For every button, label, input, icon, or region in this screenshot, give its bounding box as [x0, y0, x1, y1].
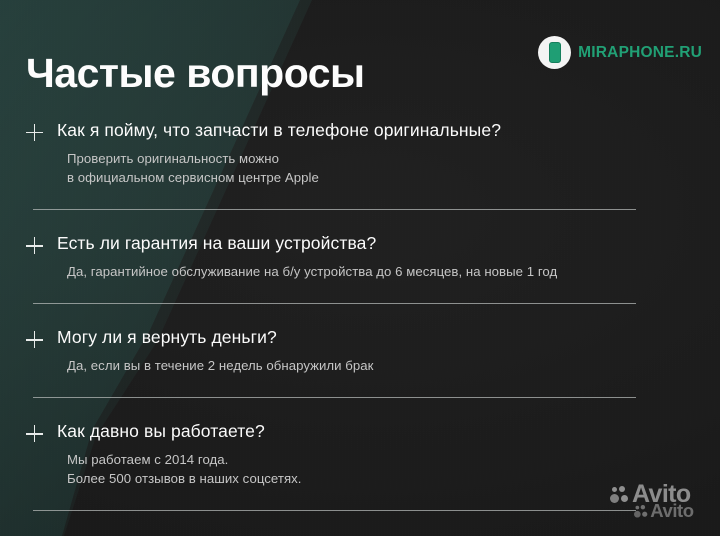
faq-divider	[33, 209, 636, 210]
faq-question-row[interactable]: Могу ли я вернуть деньги?	[0, 327, 720, 349]
faq-question: Как я пойму, что запчасти в телефоне ори…	[57, 120, 501, 142]
faq-question: Как давно вы работаете?	[57, 421, 265, 443]
faq-item-4[interactable]: Как давно вы работаете? Мы работаем с 20…	[0, 421, 720, 511]
faq-question-row[interactable]: Как я пойму, что запчасти в телефоне ори…	[0, 120, 720, 142]
faq-question-row[interactable]: Есть ли гарантия на ваши устройства?	[0, 233, 720, 255]
plus-icon[interactable]	[26, 124, 43, 141]
faq-divider	[33, 303, 636, 304]
faq-question: Могу ли я вернуть деньги?	[57, 327, 277, 349]
faq-divider	[33, 510, 636, 511]
faq-slide: Частые вопросы MIRAPHONE.RU Как я пойму,…	[0, 0, 720, 536]
plus-icon[interactable]	[26, 425, 43, 442]
faq-question: Есть ли гарантия на ваши устройства?	[57, 233, 376, 255]
phone-icon	[538, 36, 571, 69]
faq-item-1[interactable]: Как я пойму, что запчасти в телефоне ори…	[0, 120, 720, 233]
phone-icon-body	[549, 42, 561, 63]
faq-list: Как я пойму, что запчасти в телефоне ори…	[0, 120, 720, 511]
brand-logo[interactable]: MIRAPHONE.RU	[538, 36, 702, 69]
faq-answer: Да, если вы в течение 2 недель обнаружил…	[67, 356, 720, 375]
faq-question-row[interactable]: Как давно вы работаете?	[0, 421, 720, 443]
faq-item-2[interactable]: Есть ли гарантия на ваши устройства? Да,…	[0, 233, 720, 327]
faq-divider	[33, 397, 636, 398]
faq-item-3[interactable]: Могу ли я вернуть деньги? Да, если вы в …	[0, 327, 720, 421]
faq-answer: Мы работаем с 2014 года. Более 500 отзыв…	[67, 450, 720, 488]
plus-icon[interactable]	[26, 237, 43, 254]
faq-answer: Да, гарантийное обслуживание на б/у устр…	[67, 262, 720, 281]
page-title: Частые вопросы	[26, 53, 365, 94]
plus-icon[interactable]	[26, 331, 43, 348]
brand-name: MIRAPHONE.RU	[578, 44, 702, 62]
faq-answer: Проверить оригинальность можно в официал…	[67, 149, 720, 187]
